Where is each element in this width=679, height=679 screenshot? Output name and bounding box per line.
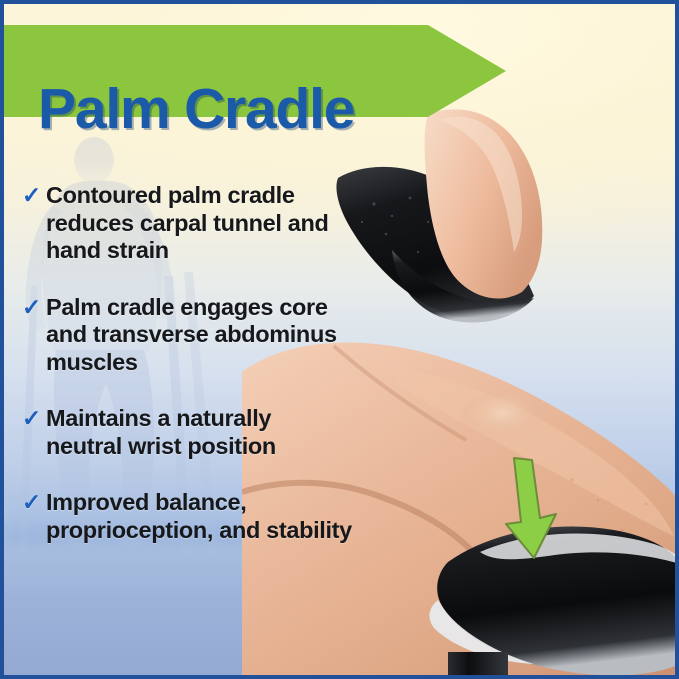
list-item: ✓ Maintains a naturally neutral wrist po… xyxy=(22,405,352,460)
list-item: ✓ Contoured palm cradle reduces carpal t… xyxy=(22,182,352,265)
check-icon: ✓ xyxy=(22,489,46,516)
feature-text: Maintains a naturally neutral wrist posi… xyxy=(46,405,352,460)
feature-text: Palm cradle engages core and transverse … xyxy=(46,294,352,377)
list-item: ✓ Palm cradle engages core and transvers… xyxy=(22,294,352,377)
feature-text: Improved balance, proprioception, and st… xyxy=(46,489,352,544)
page-title: Palm Cradle xyxy=(38,63,508,155)
check-icon: ✓ xyxy=(22,294,46,321)
product-feature-infographic: Palm Cradle ✓ Contoured palm cradle redu… xyxy=(0,0,679,679)
list-item: ✓ Improved balance, proprioception, and … xyxy=(22,489,352,544)
feature-list: ✓ Contoured palm cradle reduces carpal t… xyxy=(22,182,352,544)
check-icon: ✓ xyxy=(22,182,46,209)
down-arrow-icon xyxy=(500,452,562,562)
check-icon: ✓ xyxy=(22,405,46,432)
feature-text: Contoured palm cradle reduces carpal tun… xyxy=(46,182,352,265)
